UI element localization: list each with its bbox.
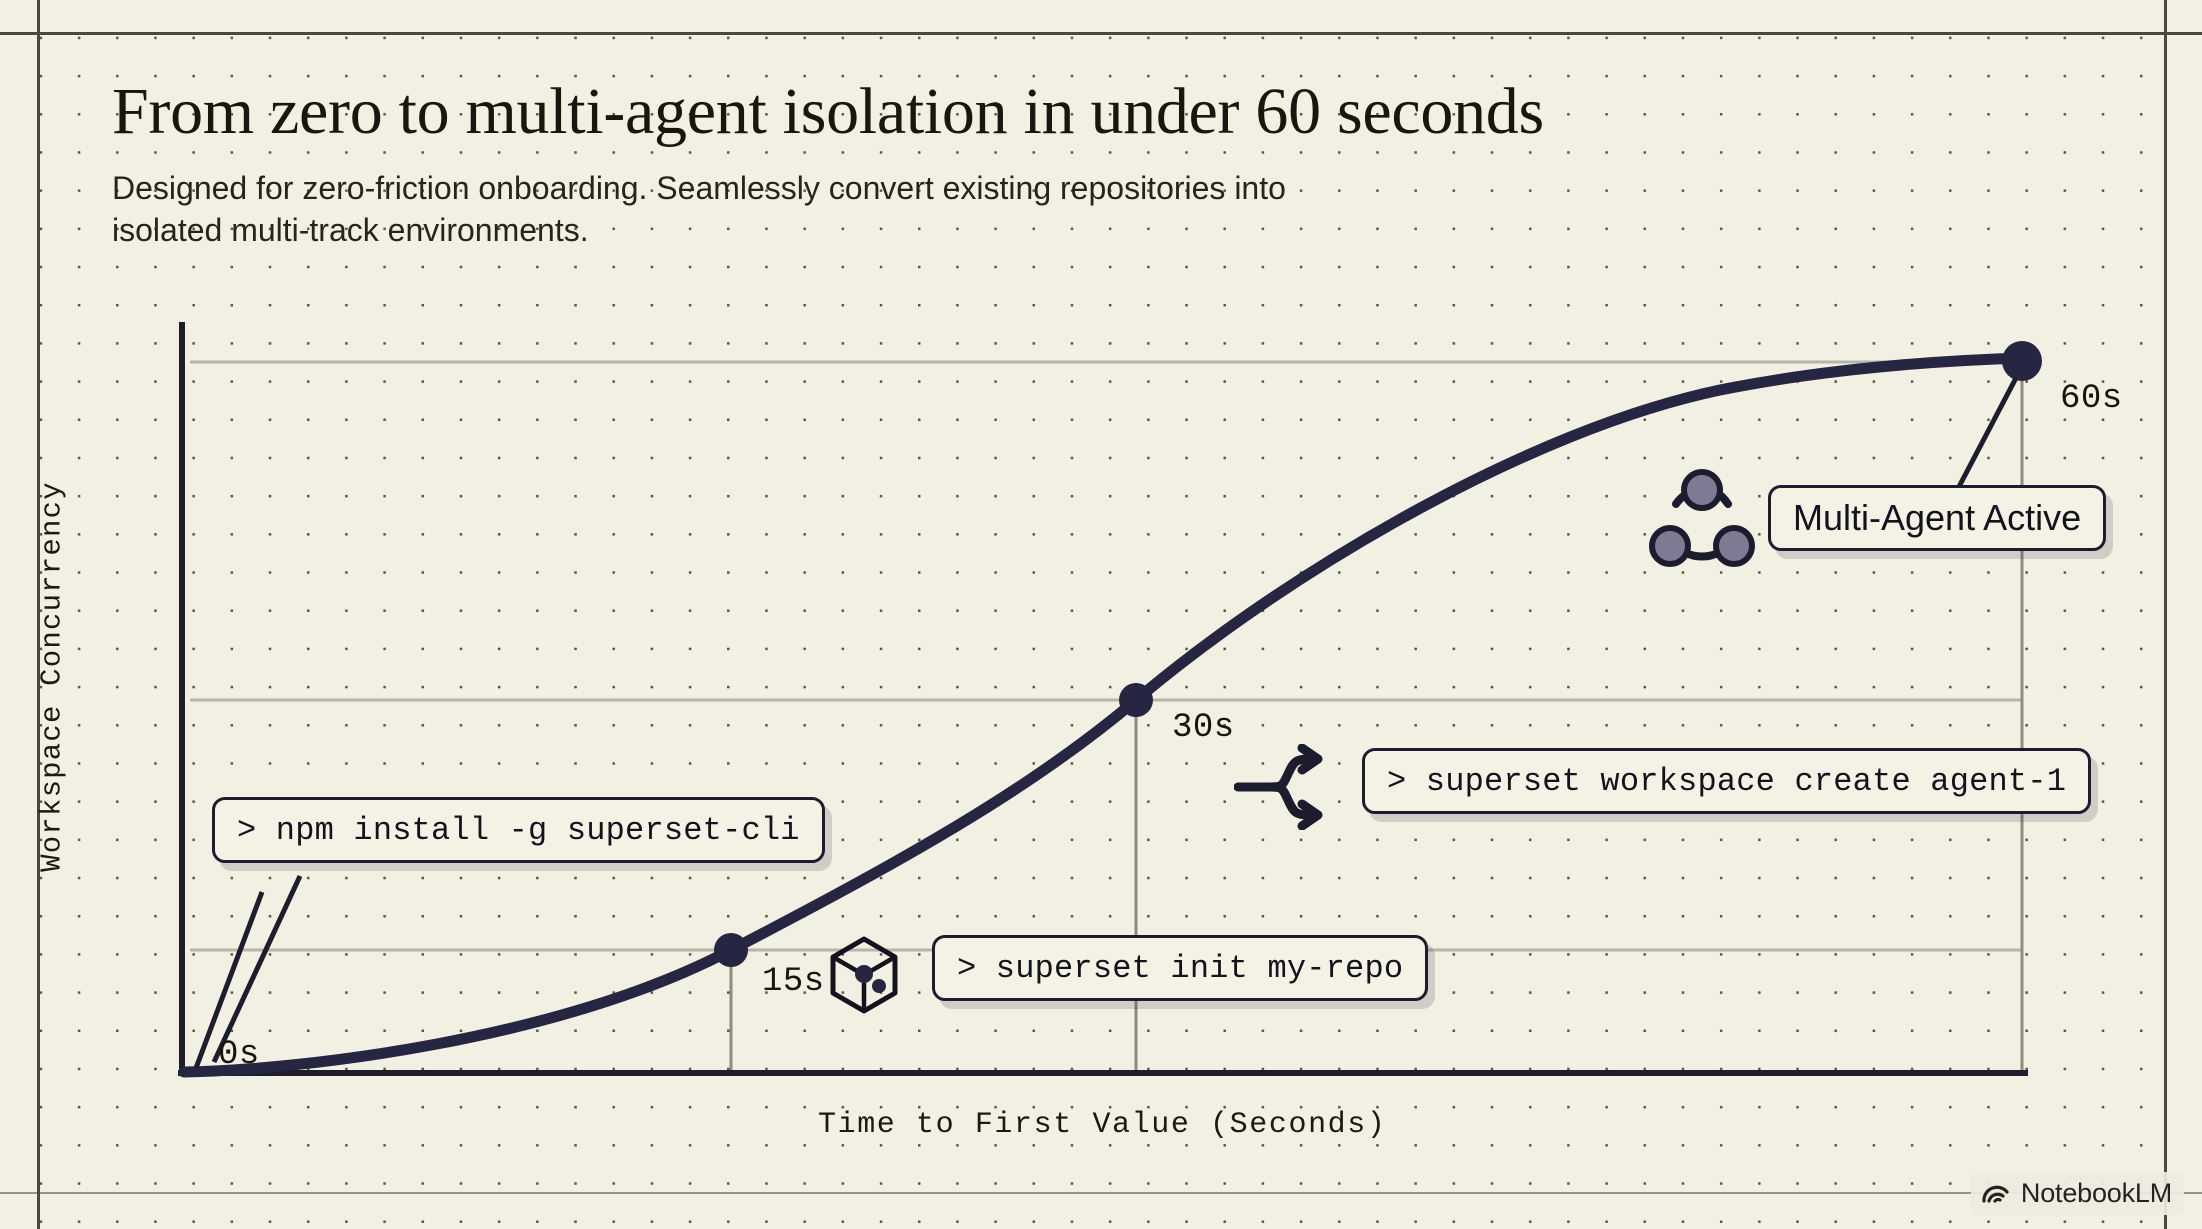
page-title: From zero to multi-agent isolation in un…: [112, 78, 2012, 147]
callout-npm-install[interactable]: > npm install -g superset-cli: [212, 797, 825, 863]
leader-line-60s: [1952, 378, 2016, 500]
crop-mark-top: [0, 32, 2202, 35]
callout-workspace-create[interactable]: > superset workspace create agent-1: [1362, 748, 2091, 814]
multi-agent-nodes-icon: [1648, 468, 1756, 572]
notebooklm-label: NotebookLM: [2021, 1178, 2172, 1209]
tick-label-30s: 30s: [1172, 709, 1235, 747]
page-subtitle: Designed for zero-friction onboarding. S…: [112, 167, 1352, 251]
branch-fork-icon: [1234, 744, 1352, 830]
header-block: From zero to multi-agent isolation in un…: [112, 78, 2012, 251]
callout-multi-agent-active-text: Multi-Agent Active: [1793, 497, 2081, 539]
y-axis-title: Workspace Concurrency: [36, 457, 69, 897]
crop-mark-bottom: [0, 1192, 2202, 1194]
infographic-canvas: From zero to multi-agent isolation in un…: [0, 0, 2202, 1229]
notebooklm-watermark: NotebookLM: [1971, 1172, 2184, 1215]
crop-mark-right: [2164, 0, 2167, 1229]
callout-superset-init-text: > superset init my-repo: [957, 950, 1403, 987]
callout-multi-agent-active[interactable]: Multi-Agent Active: [1768, 485, 2106, 551]
data-point-60s[interactable]: [2002, 341, 2042, 381]
crop-mark-left: [37, 0, 40, 1229]
tick-label-15s: 15s: [762, 963, 825, 1001]
x-axis-title: Time to First Value (Seconds): [818, 1108, 1387, 1142]
tick-label-0s: 0s: [218, 1036, 260, 1074]
callout-workspace-create-text: > superset workspace create agent-1: [1387, 763, 2066, 800]
callout-superset-init[interactable]: > superset init my-repo: [932, 935, 1428, 1001]
notebooklm-icon: [1981, 1178, 2011, 1209]
data-point-15s[interactable]: [714, 933, 748, 967]
tick-label-60s: 60s: [2060, 380, 2123, 418]
callout-npm-install-text: > npm install -g superset-cli: [237, 812, 800, 849]
leader-line-0s-a: [196, 892, 262, 1068]
data-point-30s[interactable]: [1119, 683, 1153, 717]
cube-icon: [828, 936, 900, 1014]
leader-line-0s-b: [214, 876, 300, 1062]
